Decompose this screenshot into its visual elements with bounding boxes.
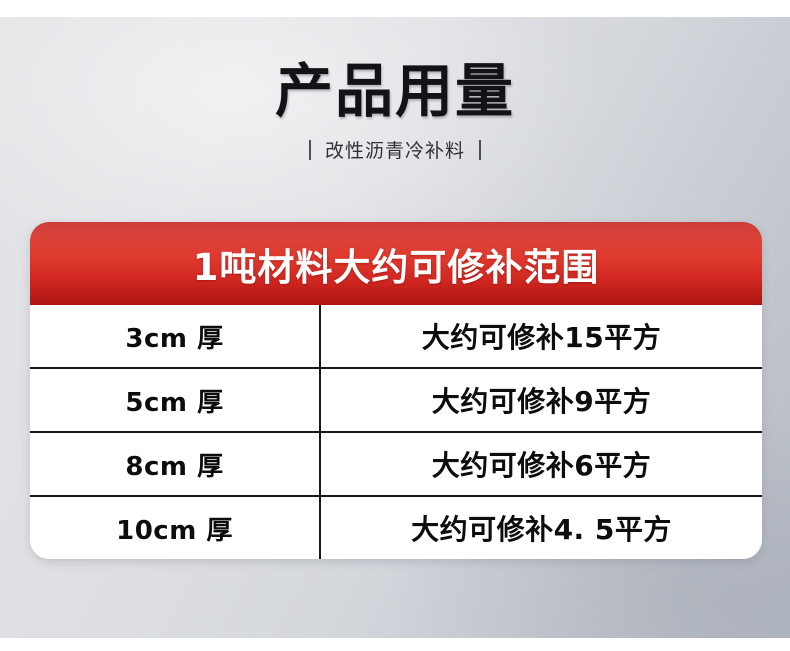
area-cell: 大约可修补4. 5平方 — [321, 497, 762, 559]
area-cell: 大约可修补15平方 — [321, 305, 762, 367]
area-value: 大约可修补15平方 — [422, 316, 661, 356]
thickness-value: 10cm 厚 — [116, 510, 233, 547]
table-banner-header: 1吨材料大约可修补范围 — [30, 222, 762, 305]
area-value: 大约可修补9平方 — [432, 380, 651, 420]
subtitle-row: 改性沥青冷补料 — [0, 136, 790, 163]
page-subtitle: 改性沥青冷补料 — [325, 136, 465, 163]
thickness-cell: 10cm 厚 — [30, 497, 321, 559]
usage-table: 3cm 厚 大约可修补15平方 5cm 厚 大约可修补9平方 8cm 厚 — [30, 305, 762, 559]
thickness-cell: 5cm 厚 — [30, 369, 321, 431]
area-cell: 大约可修补6平方 — [321, 433, 762, 495]
table-row: 8cm 厚 大约可修补6平方 — [30, 433, 762, 497]
area-value: 大约可修补6平方 — [432, 444, 651, 484]
subtitle-left-bar-icon — [309, 140, 311, 160]
subtitle-right-bar-icon — [479, 140, 481, 160]
area-cell: 大约可修补9平方 — [321, 369, 762, 431]
area-value: 大约可修补4. 5平方 — [411, 508, 672, 548]
table-row: 10cm 厚 大约可修补4. 5平方 — [30, 497, 762, 559]
thickness-value: 8cm 厚 — [125, 446, 223, 483]
usage-table-card: 1吨材料大约可修补范围 3cm 厚 大约可修补15平方 5cm 厚 大约可修补9… — [30, 222, 762, 559]
thickness-cell: 3cm 厚 — [30, 305, 321, 367]
header-block: 产品用量 改性沥青冷补料 — [0, 62, 790, 163]
table-row: 3cm 厚 大约可修补15平方 — [30, 305, 762, 369]
page-title: 产品用量 — [0, 62, 790, 120]
thickness-value: 3cm 厚 — [125, 318, 223, 355]
thickness-value: 5cm 厚 — [125, 382, 223, 419]
product-usage-infographic: 产品用量 改性沥青冷补料 1吨材料大约可修补范围 3cm 厚 大约可修补15平方 — [0, 0, 790, 651]
table-row: 5cm 厚 大约可修补9平方 — [30, 369, 762, 433]
thickness-cell: 8cm 厚 — [30, 433, 321, 495]
banner-title: 1吨材料大约可修补范围 — [193, 237, 600, 291]
